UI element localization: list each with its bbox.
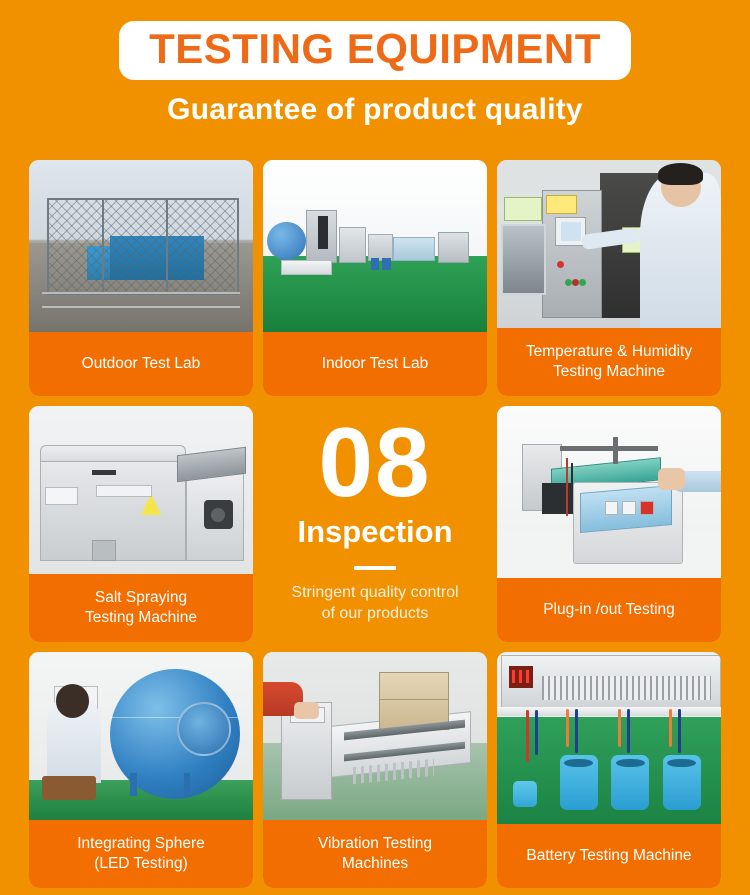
card-caption: Outdoor Test Lab — [29, 332, 253, 396]
card-caption-text: Salt Spraying Testing Machine — [35, 588, 247, 628]
card-caption: Vibration Testing Machines — [263, 820, 487, 888]
grid-cell-outdoor-test-lab[interactable]: Outdoor Test Lab — [29, 160, 253, 396]
equipment-card[interactable]: Battery Testing Machine — [497, 652, 721, 888]
page-subtitle: Guarantee of product quality — [0, 93, 750, 127]
banner-header: TESTING EQUIPMENT Guarantee of product q… — [0, 0, 750, 127]
divider-line — [354, 566, 396, 570]
step-description: Stringent quality control of our product… — [291, 582, 458, 624]
grid-cell-salt-spraying[interactable]: Salt Spraying Testing Machine — [29, 406, 253, 642]
card-caption: Temperature & Humidity Testing Machine — [497, 328, 721, 396]
grid-row-1: Outdoor Test Lab Indoor T — [29, 160, 721, 396]
equipment-card[interactable]: Vibration Testing Machines — [263, 652, 487, 888]
equipment-card[interactable]: Indoor Test Lab — [263, 160, 487, 396]
integrating-sphere-photo — [29, 652, 253, 820]
card-caption-text: Battery Testing Machine — [503, 846, 715, 866]
card-caption: Integrating Sphere (LED Testing) — [29, 820, 253, 888]
card-caption: Salt Spraying Testing Machine — [29, 574, 253, 642]
card-caption-text: Indoor Test Lab — [269, 354, 481, 374]
testing-equipment-banner: TESTING EQUIPMENT Guarantee of product q… — [0, 0, 750, 895]
salt-spraying-photo — [29, 406, 253, 574]
grid-cell-plug-in-out-testing[interactable]: Plug-in /out Testing — [497, 406, 721, 642]
vibration-testing-photo — [263, 652, 487, 820]
grid-row-2: Salt Spraying Testing Machine 08 Inspect… — [29, 406, 721, 642]
card-caption: Battery Testing Machine — [497, 824, 721, 888]
equipment-card[interactable]: Plug-in /out Testing — [497, 406, 721, 642]
plug-in-out-testing-photo — [497, 406, 721, 578]
card-caption: Indoor Test Lab — [263, 332, 487, 396]
page-title: TESTING EQUIPMENT — [149, 27, 601, 71]
indoor-test-lab-photo — [263, 160, 487, 332]
inspection-feature-panel: 08 Inspection Stringent quality control … — [263, 406, 487, 642]
grid-row-3: Integrating Sphere (LED Testing) — [29, 652, 721, 888]
grid-cell-inspection-feature: 08 Inspection Stringent quality control … — [263, 406, 487, 642]
grid-cell-battery-testing[interactable]: Battery Testing Machine — [497, 652, 721, 888]
equipment-card[interactable]: Temperature & Humidity Testing Machine — [497, 160, 721, 396]
equipment-card[interactable]: Salt Spraying Testing Machine — [29, 406, 253, 642]
card-caption-text: Temperature & Humidity Testing Machine — [503, 342, 715, 382]
title-pill: TESTING EQUIPMENT — [119, 21, 631, 80]
equipment-grid: Outdoor Test Lab Indoor T — [29, 160, 721, 888]
equipment-card[interactable]: Outdoor Test Lab — [29, 160, 253, 396]
equipment-card[interactable]: Integrating Sphere (LED Testing) — [29, 652, 253, 888]
card-caption-text: Integrating Sphere (LED Testing) — [35, 834, 247, 874]
card-caption: Plug-in /out Testing — [497, 578, 721, 642]
grid-cell-indoor-test-lab[interactable]: Indoor Test Lab — [263, 160, 487, 396]
grid-cell-vibration-testing[interactable]: Vibration Testing Machines — [263, 652, 487, 888]
step-label: Inspection — [297, 514, 452, 550]
grid-cell-temperature-humidity[interactable]: Temperature & Humidity Testing Machine — [497, 160, 721, 396]
card-caption-text: Plug-in /out Testing — [503, 600, 715, 620]
card-caption-text: Vibration Testing Machines — [269, 834, 481, 874]
battery-testing-photo — [497, 652, 721, 824]
grid-cell-integrating-sphere[interactable]: Integrating Sphere (LED Testing) — [29, 652, 253, 888]
card-caption-text: Outdoor Test Lab — [35, 354, 247, 374]
outdoor-test-lab-photo — [29, 160, 253, 332]
temperature-humidity-photo — [497, 160, 721, 328]
step-number: 08 — [318, 412, 431, 512]
